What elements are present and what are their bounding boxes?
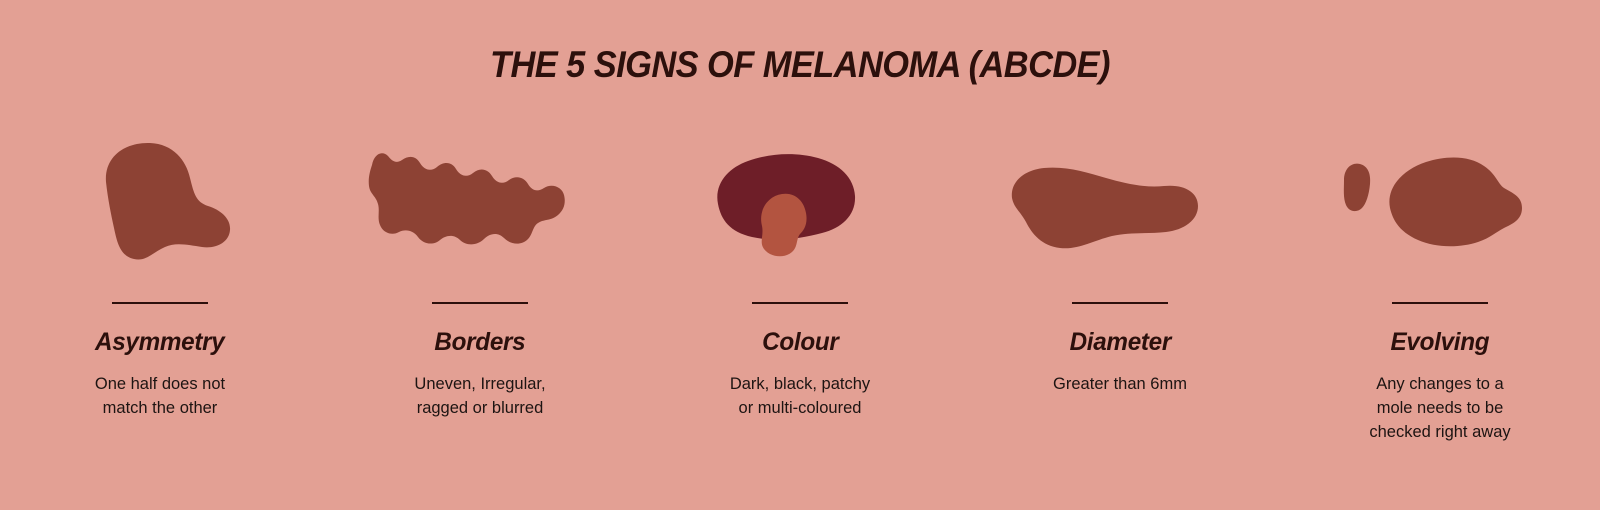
sign-panel-borders: Borders Uneven, Irregular, ragged or blu… — [320, 120, 640, 420]
asymmetric-mole-shape — [10, 120, 310, 280]
caption-line: match the other — [95, 396, 225, 420]
large-mole — [1389, 157, 1522, 246]
multicoloured-mole-shape — [650, 120, 950, 280]
sign-caption: Uneven, Irregular, ragged or blurred — [414, 372, 545, 420]
sign-heading: Diameter — [1069, 330, 1170, 355]
light-patch — [761, 194, 806, 257]
sign-caption: Greater than 6mm — [1053, 372, 1187, 396]
sign-panel-asymmetry: Asymmetry One half does not match the ot… — [0, 120, 320, 420]
irregular-border-mole-shape — [330, 120, 630, 280]
caption-line: Any changes to a — [1369, 372, 1510, 396]
panel-divider — [752, 302, 848, 304]
sign-heading: Borders — [435, 330, 526, 355]
panel-divider — [1392, 302, 1488, 304]
page-title: THE 5 SIGNS OF MELANOMA (ABCDE) — [56, 44, 1544, 86]
sign-panel-evolving: Evolving Any changes to a mole needs to … — [1280, 120, 1600, 444]
caption-line: One half does not — [95, 372, 225, 396]
signs-panel-row: Asymmetry One half does not match the ot… — [0, 120, 1600, 444]
caption-line: checked right away — [1369, 420, 1510, 444]
caption-line: or multi-coloured — [730, 396, 870, 420]
caption-line: Greater than 6mm — [1053, 372, 1187, 396]
panel-divider — [432, 302, 528, 304]
sign-caption: Dark, black, patchy or multi-coloured — [730, 372, 870, 420]
caption-line: Dark, black, patchy — [730, 372, 870, 396]
panel-divider — [1072, 302, 1168, 304]
small-mole — [1344, 164, 1370, 212]
evolving-mole-shape — [1290, 120, 1590, 280]
sign-heading: Colour — [762, 330, 838, 355]
sign-heading: Asymmetry — [95, 330, 224, 355]
sign-caption: Any changes to a mole needs to be checke… — [1369, 372, 1510, 444]
caption-line: ragged or blurred — [414, 396, 545, 420]
caption-line: mole needs to be — [1369, 396, 1510, 420]
melanoma-abcde-infographic: THE 5 SIGNS OF MELANOMA (ABCDE) Asymmetr… — [0, 0, 1600, 510]
large-diameter-mole-shape — [970, 120, 1270, 280]
sign-panel-colour: Colour Dark, black, patchy or multi-colo… — [640, 120, 960, 420]
caption-line: Uneven, Irregular, — [414, 372, 545, 396]
sign-caption: One half does not match the other — [95, 372, 225, 420]
panel-divider — [112, 302, 208, 304]
sign-panel-diameter: Diameter Greater than 6mm — [960, 120, 1280, 396]
sign-heading: Evolving — [1391, 330, 1490, 355]
